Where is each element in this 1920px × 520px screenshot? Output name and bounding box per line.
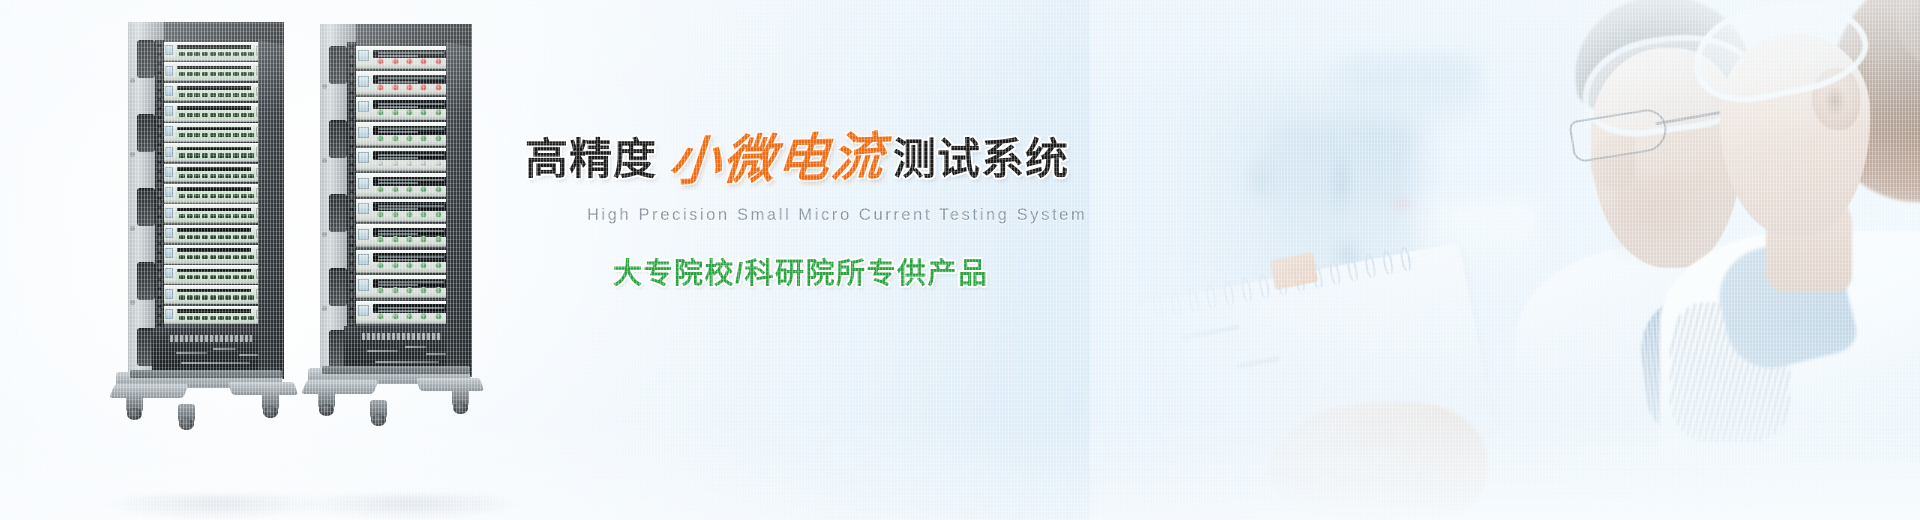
- product-banner: LAB INSTRUMENT: [0, 0, 1920, 520]
- background-vignette: [0, 0, 1920, 520]
